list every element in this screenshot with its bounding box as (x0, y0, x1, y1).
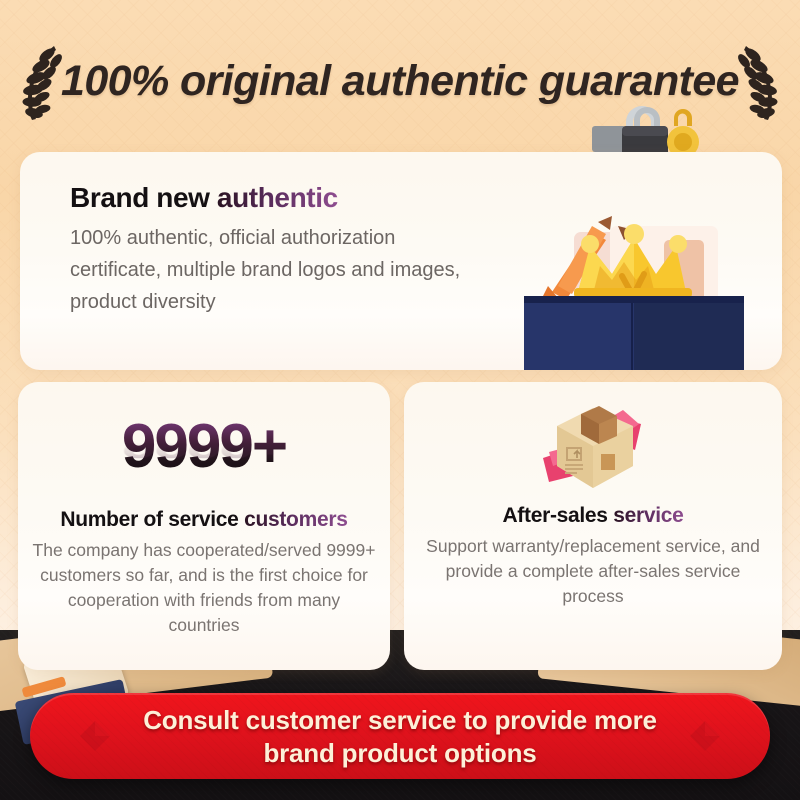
card-heading-accent: customers (244, 508, 348, 531)
card-heading: After-sales service (404, 504, 782, 528)
card-heading-plain: Brand new (70, 182, 217, 213)
card-body: Support warranty/replacement service, an… (404, 534, 782, 609)
card-after-sales-service[interactable]: After-sales service Support warranty/rep… (404, 382, 782, 670)
card-heading: Number of service customers (18, 508, 390, 532)
promo-poster: 100% original authentic guarantee (0, 0, 800, 800)
card-heading-plain: After-sales (502, 504, 613, 527)
gift-box-crown-icon (514, 174, 764, 370)
card-heading-plain: Number of service (60, 508, 244, 531)
card-heading-accent: service (613, 504, 683, 527)
padlock-icon (588, 96, 718, 158)
card-body: The company has cooperated/served 9999+ … (18, 538, 390, 638)
laurel-branch-icon (730, 42, 786, 124)
cta-banner[interactable]: Consult customer service to provide more… (30, 693, 770, 779)
card-heading: Brand new authentic (70, 182, 338, 214)
cta-banner-text: Consult customer service to provide more… (30, 704, 770, 770)
parcel-box-return-icon (531, 400, 655, 496)
cta-line-2: brand product options (30, 737, 770, 770)
card-service-customers[interactable]: 9999+ 9999+ Number of service customers … (18, 382, 390, 670)
metric-value-reflection: 9999+ (18, 430, 390, 462)
cta-line-1: Consult customer service to provide more (30, 704, 770, 737)
card-heading-accent: authentic (217, 182, 338, 213)
card-body: 100% authentic, official authorization c… (70, 222, 490, 318)
card-brand-new-authentic[interactable]: Brand new authentic 100% authentic, offi… (20, 152, 782, 370)
